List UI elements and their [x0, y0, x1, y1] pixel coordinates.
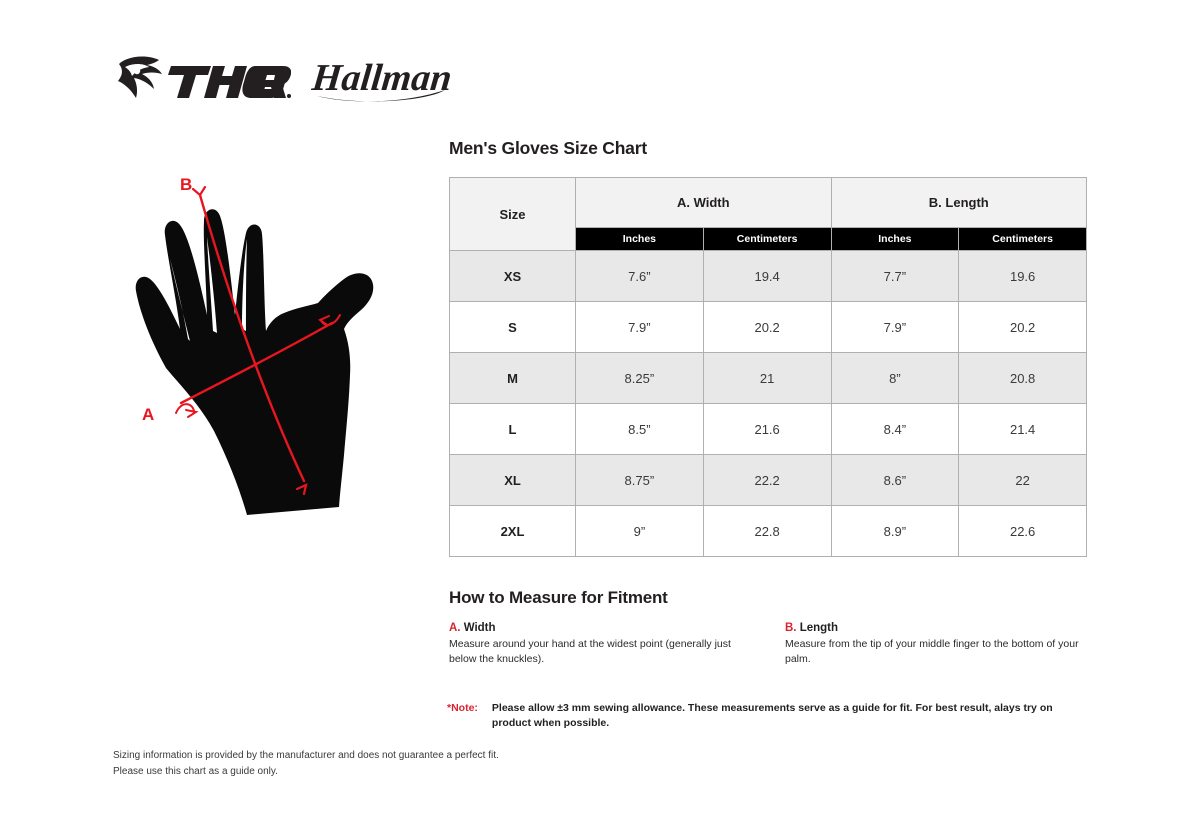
- cell-width-inches: 7.6”: [576, 251, 704, 302]
- cell-width-inches: 8.25”: [576, 353, 704, 404]
- note-label: *Note:: [447, 701, 478, 731]
- diagram-label-a: A: [142, 405, 154, 424]
- measure-description-width: Measure around your hand at the widest p…: [449, 637, 753, 667]
- cell-length-inches: 7.9”: [831, 302, 959, 353]
- measure-name-length: Length: [800, 622, 838, 634]
- footer-line-2: Please use this chart as a guide only.: [113, 764, 499, 780]
- cell-length-cm: 20.2: [959, 302, 1087, 353]
- header-width-centimeters: Centimeters: [703, 227, 831, 250]
- cell-size: L: [450, 404, 576, 455]
- cell-width-cm: 19.4: [703, 251, 831, 302]
- note-text: Please allow ±3 mm sewing allowance. The…: [492, 701, 1092, 731]
- table-row: S 7.9” 20.2 7.9” 20.2: [450, 302, 1087, 353]
- cell-length-inches: 8.6”: [831, 455, 959, 506]
- cell-width-cm: 22.8: [703, 506, 831, 557]
- cell-length-inches: 8.4”: [831, 404, 959, 455]
- cell-length-cm: 21.4: [959, 404, 1087, 455]
- cell-length-cm: 22.6: [959, 506, 1087, 557]
- measure-letter-a: A.: [449, 622, 461, 634]
- cell-length-cm: 19.6: [959, 251, 1087, 302]
- header-group-length: B. Length: [831, 178, 1087, 228]
- measure-item-width: A. Width Measure around your hand at the…: [449, 622, 753, 667]
- note-row: *Note: Please allow ±3 mm sewing allowan…: [447, 701, 1092, 731]
- table-header-group-row: Size A. Width B. Length: [450, 178, 1087, 228]
- cell-length-cm: 20.8: [959, 353, 1087, 404]
- cell-width-inches: 8.5”: [576, 404, 704, 455]
- size-chart-panel: Men's Gloves Size Chart Size A. Width B.…: [449, 138, 1089, 557]
- measure-description-length: Measure from the tip of your middle fing…: [785, 637, 1089, 667]
- diagram-label-b: B: [180, 175, 192, 194]
- table-row: 2XL 9” 22.8 8.9” 22.6: [450, 506, 1087, 557]
- header-group-width: A. Width: [576, 178, 832, 228]
- cell-size: S: [450, 302, 576, 353]
- measure-item-length: B. Length Measure from the tip of your m…: [785, 622, 1089, 667]
- table-row: XL 8.75” 22.2 8.6” 22: [450, 455, 1087, 506]
- cell-size: XS: [450, 251, 576, 302]
- table-row: XS 7.6” 19.4 7.7” 19.6: [450, 251, 1087, 302]
- thor-logo: [115, 54, 291, 106]
- cell-width-inches: 8.75”: [576, 455, 704, 506]
- cell-width-inches: 9”: [576, 506, 704, 557]
- cell-width-cm: 21: [703, 353, 831, 404]
- how-to-measure-section: How to Measure for Fitment A. Width Meas…: [449, 588, 1089, 667]
- cell-size: XL: [450, 455, 576, 506]
- table-row: L 8.5” 21.6 8.4” 21.4: [450, 404, 1087, 455]
- measure-name-width: Width: [464, 622, 496, 634]
- cell-size: 2XL: [450, 506, 576, 557]
- cell-width-inches: 7.9”: [576, 302, 704, 353]
- cell-length-inches: 7.7”: [831, 251, 959, 302]
- brand-logo-bar: Hallman: [115, 52, 475, 110]
- hallman-logo: Hallman: [311, 52, 451, 106]
- footer-line-1: Sizing information is provided by the ma…: [113, 748, 499, 764]
- cell-width-cm: 21.6: [703, 404, 831, 455]
- page-title: Men's Gloves Size Chart: [449, 138, 1089, 159]
- svg-text:Hallman: Hallman: [311, 57, 451, 99]
- measure-letter-b: B.: [785, 622, 797, 634]
- cell-length-inches: 8.9”: [831, 506, 959, 557]
- header-length-centimeters: Centimeters: [959, 227, 1087, 250]
- cell-length-cm: 22: [959, 455, 1087, 506]
- measure-heading-length: B. Length: [785, 622, 1089, 634]
- header-size: Size: [450, 178, 576, 251]
- cell-width-cm: 20.2: [703, 302, 831, 353]
- measure-heading-width: A. Width: [449, 622, 753, 634]
- footer-disclaimer: Sizing information is provided by the ma…: [113, 748, 499, 779]
- size-chart-table: Size A. Width B. Length Inches Centimete…: [449, 177, 1087, 557]
- cell-size: M: [450, 353, 576, 404]
- cell-length-inches: 8”: [831, 353, 959, 404]
- hand-measurement-diagram: B A: [118, 163, 428, 543]
- table-row: M 8.25” 21 8” 20.8: [450, 353, 1087, 404]
- header-width-inches: Inches: [576, 227, 704, 250]
- cell-width-cm: 22.2: [703, 455, 831, 506]
- header-length-inches: Inches: [831, 227, 959, 250]
- how-to-measure-title: How to Measure for Fitment: [449, 588, 1089, 608]
